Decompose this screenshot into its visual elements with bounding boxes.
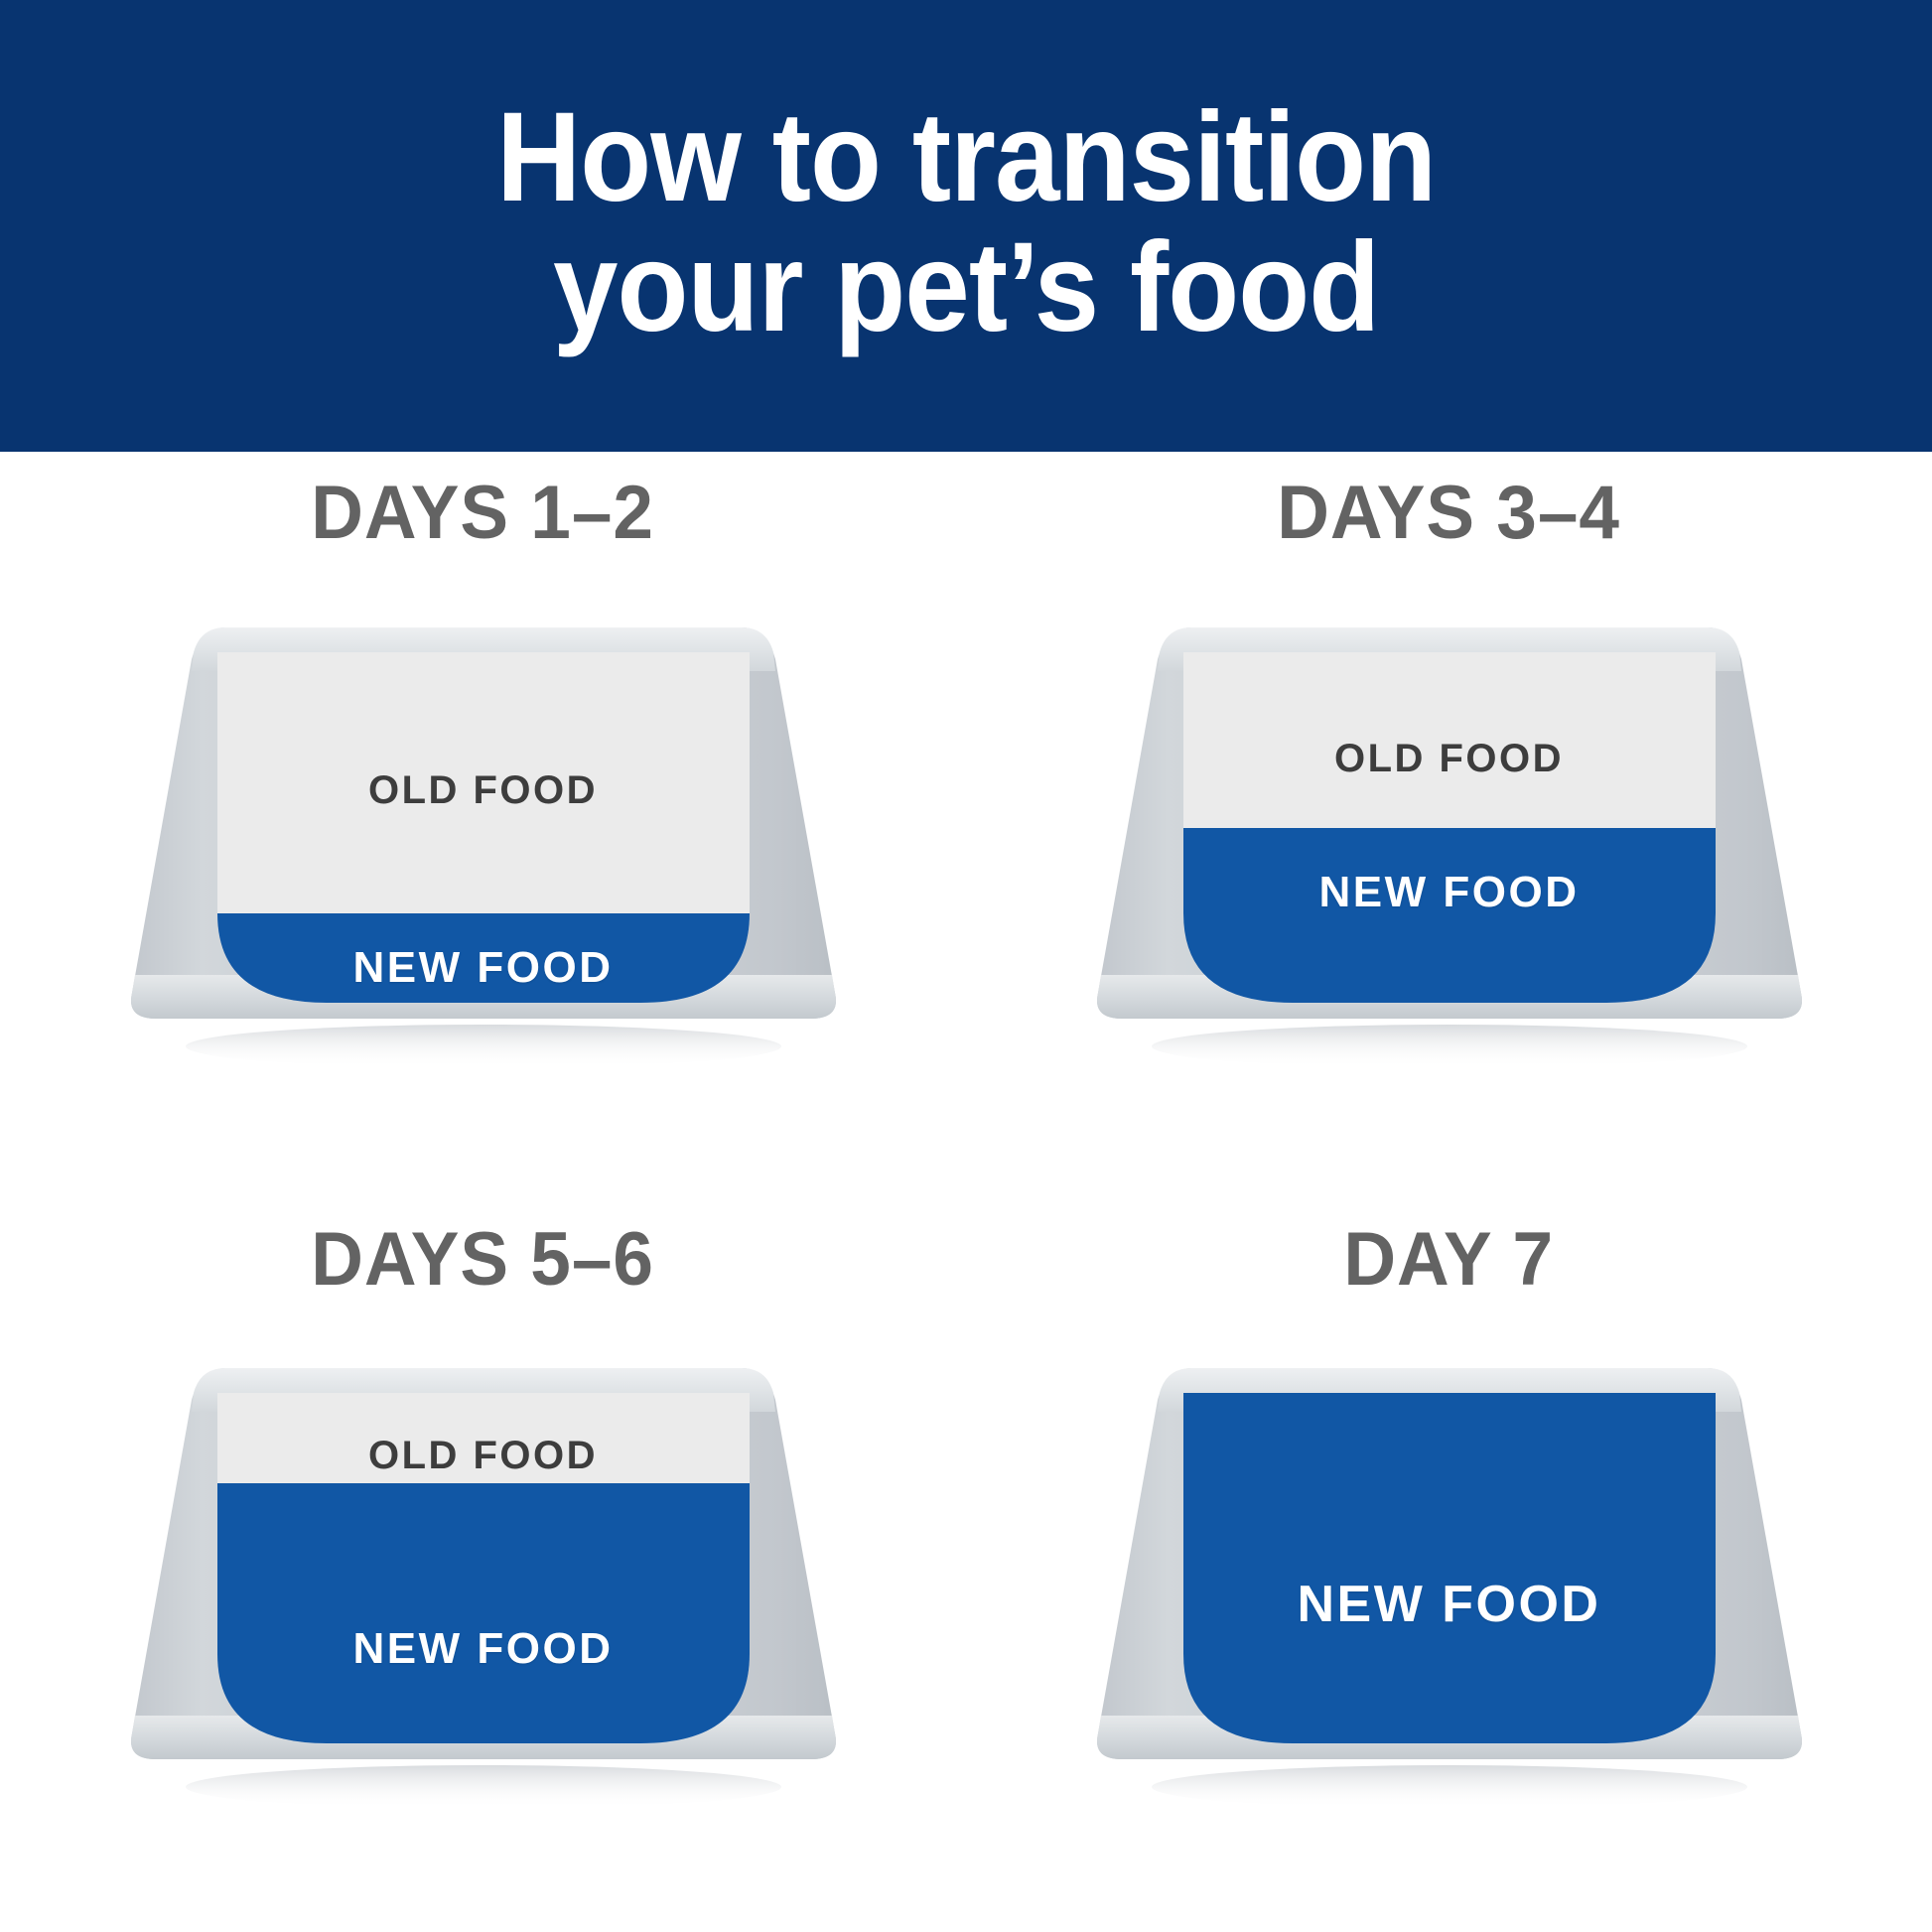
bowl-shadow [1152,1765,1747,1809]
header-banner: How to transition your pet’s food [0,0,1932,452]
bowl-shadow [186,1765,781,1809]
bowl-shadow [186,1025,781,1068]
step-card-day-7: DAY 7 [966,1192,1932,1932]
new-food-fill [1172,1388,1727,1785]
bowl-illustration-icon [106,1338,861,1815]
day-label-days-1-2: DAYS 1–2 [312,470,655,556]
step-card-days-3-4: DAYS 3–4 [966,452,1932,1192]
new-food-fill [206,1483,761,1815]
bowl-shadow [1152,1025,1747,1068]
bowl-days-5-6: OLD FOOD NEW FOOD [106,1338,861,1815]
page-title: How to transition your pet’s food [496,93,1436,352]
bowl-food-area [1172,1388,1727,1785]
bowl-day-7: NEW FOOD [1072,1338,1827,1815]
day-label-days-3-4: DAYS 3–4 [1278,470,1621,556]
bowl-illustration-icon [1072,1338,1827,1815]
bowl-days-1-2: OLD FOOD NEW FOOD [106,598,861,1074]
step-card-days-1-2: DAYS 1–2 [0,452,966,1192]
bowl-illustration-icon [1072,598,1827,1074]
step-card-days-5-6: DAYS 5–6 [0,1192,966,1932]
transition-steps-grid: DAYS 1–2 [0,452,1932,1932]
bowl-days-3-4: OLD FOOD NEW FOOD [1072,598,1827,1074]
bowl-illustration-icon [106,598,861,1074]
day-label-day-7: DAY 7 [1344,1216,1555,1303]
day-label-days-5-6: DAYS 5–6 [312,1216,655,1303]
